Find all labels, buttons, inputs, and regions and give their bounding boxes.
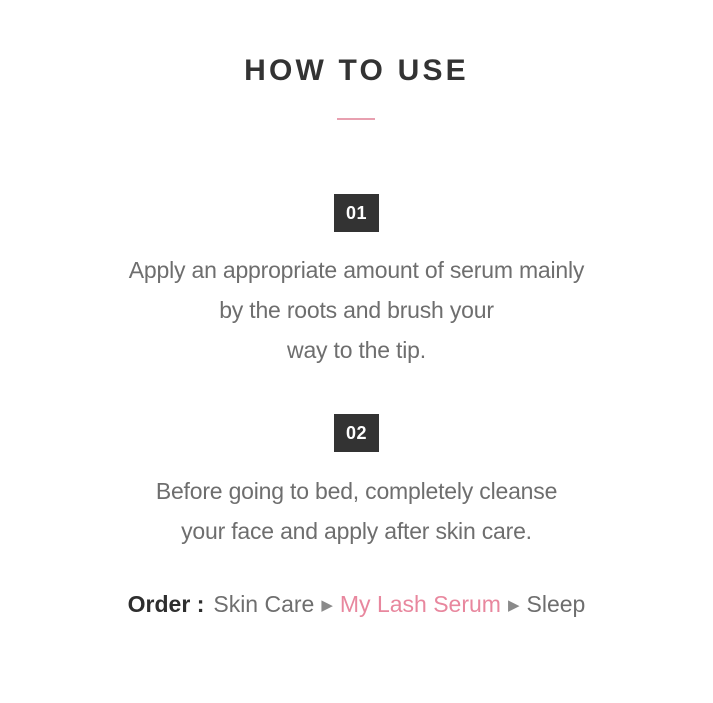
order-step-sleep: Sleep	[527, 593, 586, 616]
step-02-line-2: your face and apply after skin care.	[156, 511, 557, 551]
order-step-skin-care: Skin Care	[213, 593, 314, 616]
arrow-right-icon-2: ▶	[508, 598, 520, 613]
step-01-line-2: by the roots and brush your	[129, 290, 584, 330]
order-sequence: Order : Skin Care ▶ My Lash Serum ▶ Slee…	[128, 593, 586, 616]
step-01-line-1: Apply an appropriate amount of serum mai…	[129, 250, 584, 290]
order-label: Order :	[128, 593, 205, 616]
step-02-line-1: Before going to bed, completely cleanse	[156, 471, 557, 511]
step-badge-01: 01	[334, 194, 379, 232]
how-to-use-panel: HOW TO USE 01 Apply an appropriate amoun…	[0, 0, 713, 703]
step-badge-02: 02	[334, 414, 379, 452]
page-title: HOW TO USE	[244, 56, 469, 86]
order-step-my-lash-serum: My Lash Serum	[340, 593, 501, 616]
step-01-line-3: way to the tip.	[129, 330, 584, 370]
step-01-text: Apply an appropriate amount of serum mai…	[129, 250, 584, 370]
step-02-text: Before going to bed, completely cleanse …	[156, 471, 557, 551]
title-divider	[337, 118, 375, 120]
title-block: HOW TO USE	[244, 56, 469, 120]
arrow-right-icon: ▶	[321, 598, 333, 613]
